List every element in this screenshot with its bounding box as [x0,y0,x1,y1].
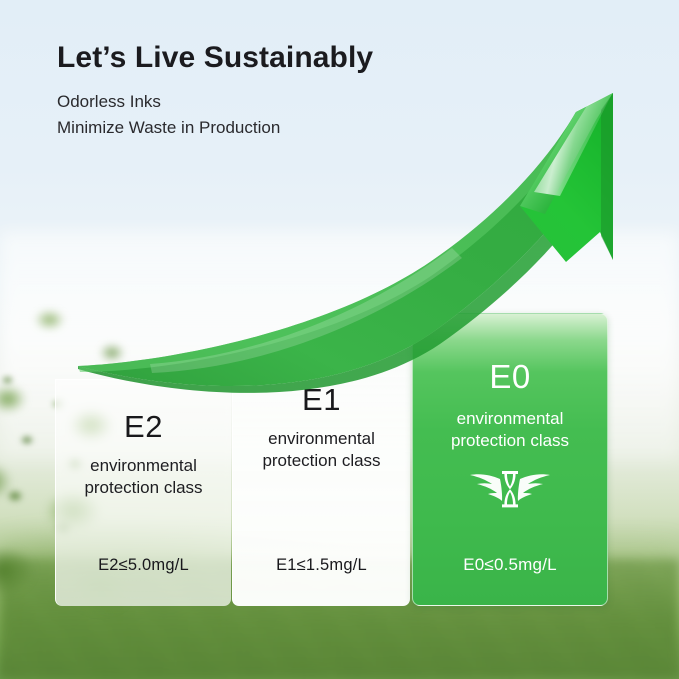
bar-e1-class: environmental protection class [262,428,380,472]
bar-e1-code: E1 [302,382,341,418]
bar-e2-class-line1: environmental [84,455,202,477]
page-title: Let’s Live Sustainably [57,40,373,75]
bar-e0-class: environmental protection class [451,408,569,452]
subtitle-line-1: Odorless Inks [57,89,373,115]
winged-hourglass-icon [467,466,553,514]
bar-e2-value: E2≤5.0mg/L [98,556,189,575]
bar-e0-code: E0 [489,358,530,396]
infographic-canvas: Let’s Live Sustainably Odorless Inks Min… [0,0,679,679]
bar-e0: E0 environmental protection class E0≤0.5… [412,313,608,606]
bar-e1-class-line1: environmental [262,428,380,450]
bar-e2-content: E2 environmental protection class E2≤5.0… [56,380,231,606]
bar-e2-class-line2: protection class [84,477,202,499]
bar-e1: E1 environmental protection class E1≤1.5… [232,355,410,606]
bar-e0-class-line2: protection class [451,430,569,452]
bar-e1-content: E1 environmental protection class E1≤1.5… [233,356,410,606]
bar-e2: E2 environmental protection class E2≤5.0… [55,379,231,606]
bar-e0-content: E0 environmental protection class E0≤0.5… [413,314,607,605]
bar-e2-class: environmental protection class [84,455,202,499]
bar-e1-value: E1≤1.5mg/L [276,556,367,575]
heading-block: Let’s Live Sustainably Odorless Inks Min… [57,40,373,141]
subtitle-line-2: Minimize Waste in Production [57,115,373,141]
bar-e2-code: E2 [124,409,163,445]
bar-e1-class-line2: protection class [262,450,380,472]
bar-e0-class-line1: environmental [451,408,569,430]
bar-e0-value: E0≤0.5mg/L [463,555,557,575]
